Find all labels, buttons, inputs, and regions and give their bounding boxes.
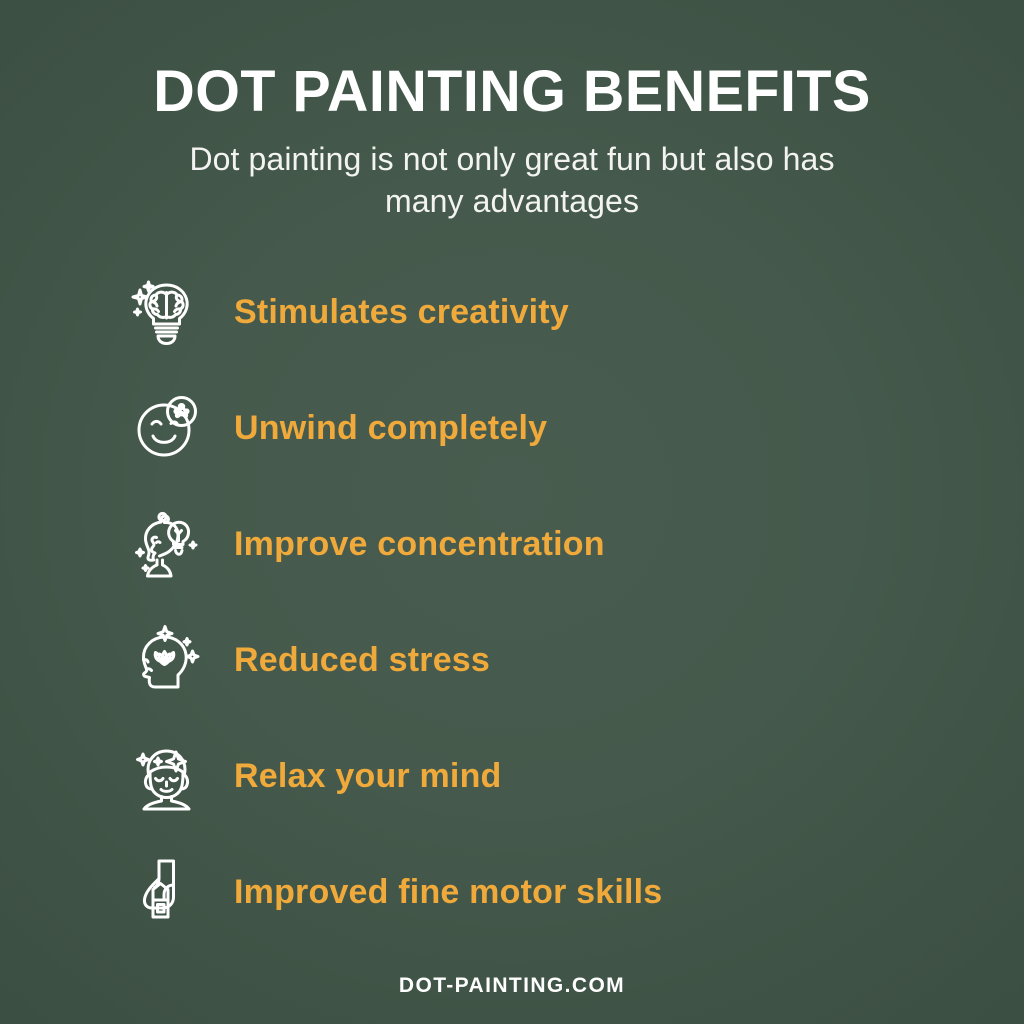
benefit-item-stimulates-creativity: Stimulates creativity bbox=[128, 272, 928, 352]
benefit-label: Relax your mind bbox=[234, 757, 502, 796]
head-lotus-sparkle-icon bbox=[128, 621, 206, 699]
website-url: DOT-PAINTING.COM bbox=[399, 974, 625, 997]
benefits-list: Stimulates creativity bbox=[128, 272, 928, 932]
header: DOT PAINTING BENEFITS Dot painting is no… bbox=[0, 62, 1024, 222]
benefit-item-reduced-stress: Reduced stress bbox=[128, 620, 928, 700]
benefit-item-improved-fine-motor-skills: Improved fine motor skills bbox=[128, 852, 928, 932]
benefit-item-relax-your-mind: Relax your mind bbox=[128, 736, 928, 816]
benefit-label: Stimulates creativity bbox=[234, 293, 569, 332]
benefit-label: Reduced stress bbox=[234, 641, 490, 680]
hand-holding-block-icon bbox=[128, 853, 206, 931]
benefit-label: Improved fine motor skills bbox=[234, 873, 662, 912]
benefit-label: Unwind completely bbox=[234, 409, 547, 448]
winking-smiley-flower-icon bbox=[128, 389, 206, 467]
benefit-item-improve-concentration: Improve concentration bbox=[128, 504, 928, 584]
brain-lightbulb-sparkle-icon bbox=[128, 273, 206, 351]
woman-head-lightbulb-icon bbox=[128, 505, 206, 583]
page-subtitle: Dot painting is not only great fun but a… bbox=[147, 139, 877, 222]
footer: DOT-PAINTING.COM bbox=[0, 974, 1024, 998]
benefit-label: Improve concentration bbox=[234, 525, 605, 564]
relaxed-face-stars-icon bbox=[128, 737, 206, 815]
page-title: DOT PAINTING BENEFITS bbox=[5, 62, 1019, 121]
infographic-poster: DOT PAINTING BENEFITS Dot painting is no… bbox=[0, 0, 1024, 1024]
benefit-item-unwind-completely: Unwind completely bbox=[128, 388, 928, 468]
